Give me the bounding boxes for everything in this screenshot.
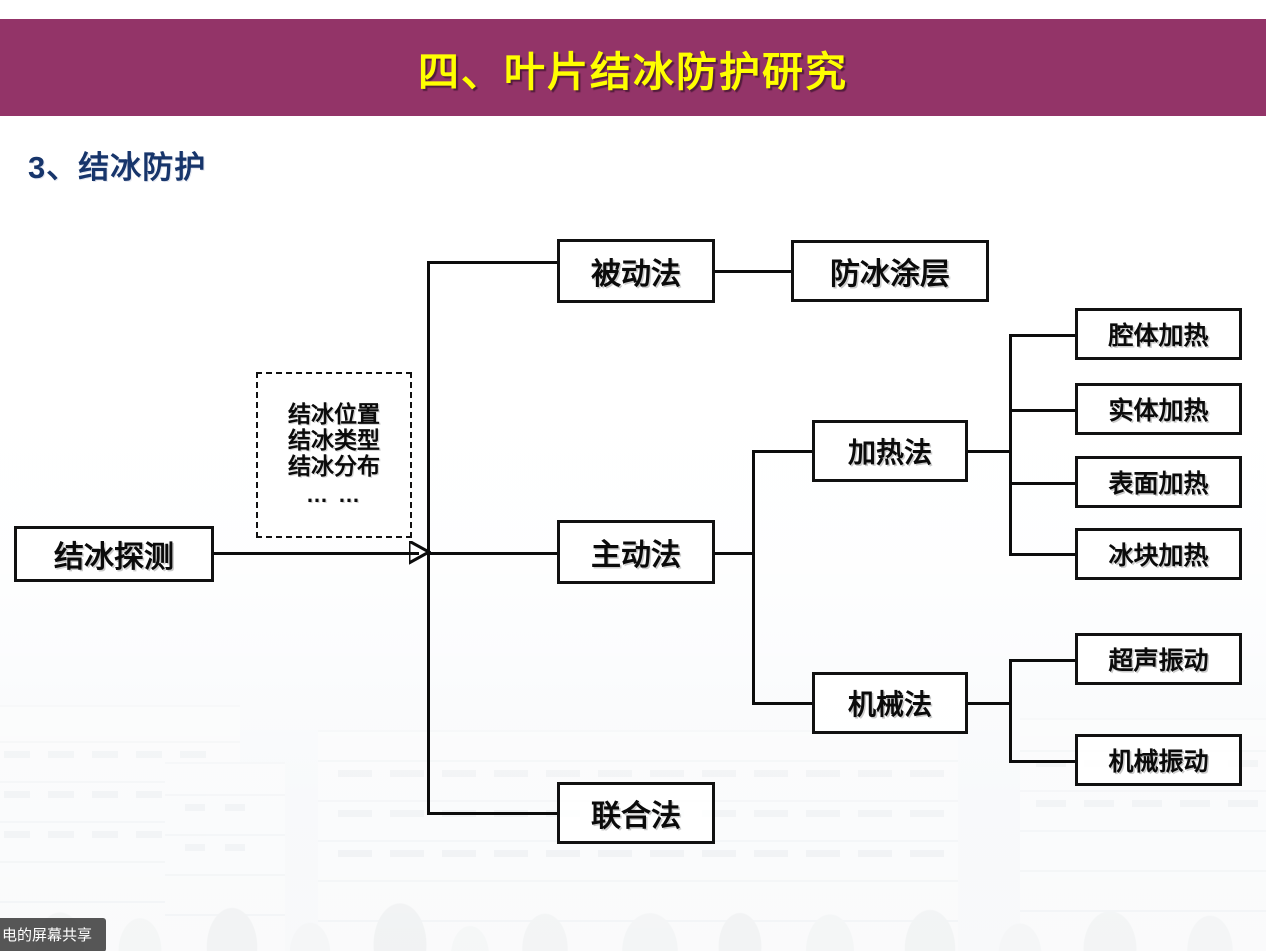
presentation-slide: 四、叶片结冰防护研究 3、结冰防护 结冰探测 结冰位置 结冰类型 结冰分布 … …	[0, 0, 1266, 951]
node-ice-block-heating[interactable]: 冰块加热	[1075, 528, 1242, 580]
connector-active-bus	[752, 450, 755, 705]
connector-active-to-bus	[715, 552, 755, 555]
criteria-line-2: 结冰类型	[288, 428, 380, 454]
node-active-method[interactable]: 主动法	[557, 520, 715, 584]
node-combined-method[interactable]: 联合法	[557, 782, 715, 844]
node-ice-detection[interactable]: 结冰探测	[14, 526, 214, 582]
connector-heating-bus	[1009, 334, 1012, 556]
node-mechanical-vibration[interactable]: 机械振动	[1075, 734, 1242, 786]
connector-trunk-to-passive	[427, 261, 558, 264]
screen-share-status-badge: 电的屏幕共享	[0, 918, 106, 951]
connector-bus-to-cavity-heating	[1009, 334, 1075, 337]
connector-bus-to-mechanical-vibration	[1009, 760, 1075, 763]
criteria-line-4: … …	[306, 483, 362, 508]
node-detection-criteria[interactable]: 结冰位置 结冰类型 结冰分布 … …	[256, 372, 412, 538]
node-mechanical-method[interactable]: 机械法	[812, 672, 968, 734]
connector-main-trunk	[427, 261, 430, 815]
node-heating-method[interactable]: 加热法	[812, 420, 968, 482]
page-title: 四、叶片结冰防护研究	[418, 38, 848, 98]
slide-title-banner: 四、叶片结冰防护研究	[0, 19, 1266, 116]
node-anti-icing-coating[interactable]: 防冰涂层	[791, 240, 989, 302]
criteria-line-3: 结冰分布	[288, 454, 380, 480]
connector-trunk-to-combined	[427, 812, 558, 815]
node-solid-heating[interactable]: 实体加热	[1075, 383, 1242, 435]
connector-root-to-trunk	[214, 552, 419, 555]
connector-bus-to-ultrasonic	[1009, 659, 1075, 662]
connector-mechanical-bus	[1009, 659, 1012, 763]
connector-heating-to-bus	[968, 450, 1012, 453]
criteria-line-1: 结冰位置	[288, 402, 380, 428]
node-cavity-heating[interactable]: 腔体加热	[1075, 308, 1242, 360]
connector-bus-to-surface-heating	[1009, 482, 1075, 485]
connector-passive-to-coating	[715, 270, 791, 273]
node-surface-heating[interactable]: 表面加热	[1075, 456, 1242, 508]
connector-trunk-to-active	[427, 552, 558, 555]
connector-bus-to-heating	[752, 450, 812, 453]
node-passive-method[interactable]: 被动法	[557, 239, 715, 303]
section-subtitle: 3、结冰防护	[28, 142, 206, 187]
connector-mechanical-to-bus	[968, 702, 1012, 705]
connector-bus-to-solid-heating	[1009, 409, 1075, 412]
connector-bus-to-ice-block-heating	[1009, 553, 1075, 556]
connector-bus-to-mechanical	[752, 702, 812, 705]
node-ultrasonic-vibration[interactable]: 超声振动	[1075, 633, 1242, 685]
